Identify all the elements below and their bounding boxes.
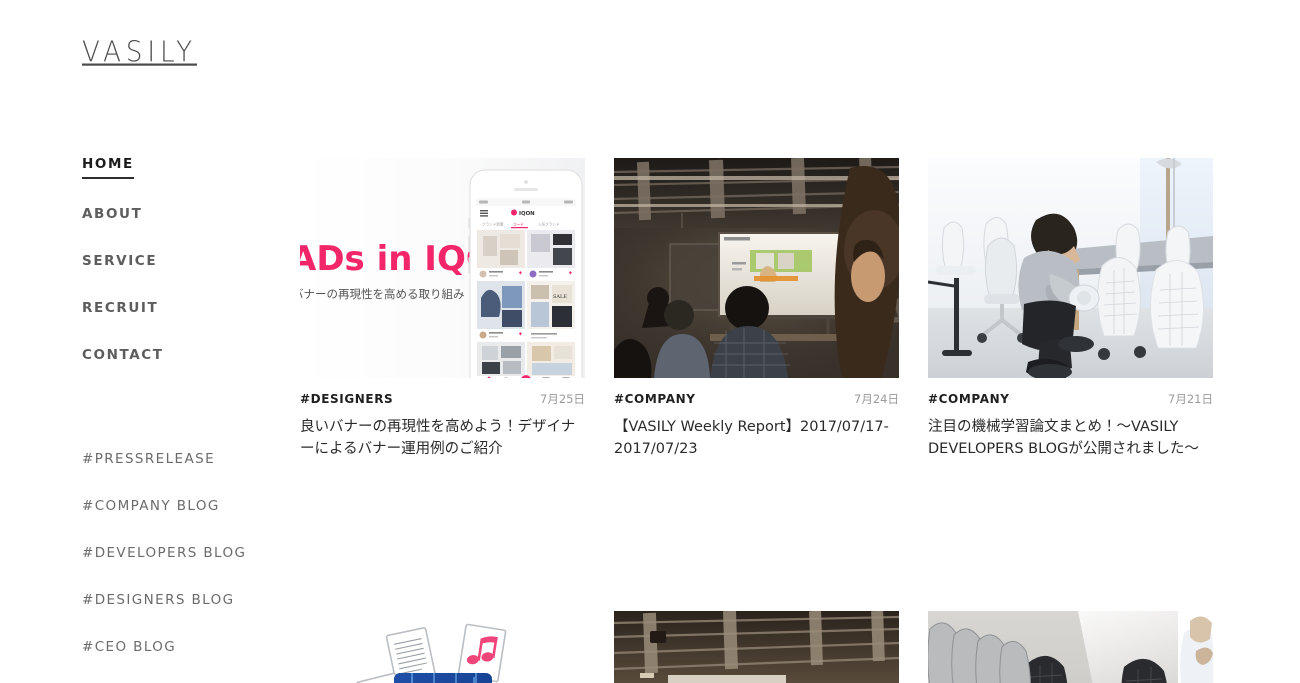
- sidebar-link-designers-blog[interactable]: #DESIGNERS BLOG: [82, 592, 235, 608]
- post-title[interactable]: 良いバナーの再現性を高めよう！デザイナーによるバナー運用例のご紹介: [300, 416, 585, 461]
- post-category[interactable]: #COMPANY: [928, 392, 1010, 406]
- machine-learning-brain-illustration-art: [300, 611, 585, 683]
- post-meta: #COMPANY 7月21日: [928, 391, 1213, 407]
- post-grid: ADs in IQON バナーの再現性を高める取り組み: [300, 158, 1212, 683]
- sidebar-link-company-blog[interactable]: #COMPANY BLOG: [82, 498, 220, 514]
- sidebar-item-home[interactable]: HOME: [82, 155, 282, 179]
- tag-nav: #PRESSRELEASE #COMPANY BLOG #DEVELOPERS …: [82, 450, 302, 683]
- sidebar-link-about[interactable]: ABOUT: [82, 206, 142, 226]
- sidebar-link-pressrelease[interactable]: #PRESSRELEASE: [82, 451, 215, 467]
- post-date: 7月25日: [540, 391, 585, 407]
- sidebar-item-developers-blog[interactable]: #DEVELOPERS BLOG: [82, 544, 302, 562]
- post-thumbnail-office-room[interactable]: [928, 158, 1213, 378]
- svg-text:人気ブランド: 人気ブランド: [538, 221, 560, 226]
- post-row: ADs in IQON バナーの再現性を高める取り組み: [300, 158, 1212, 461]
- primary-nav: HOME ABOUT SERVICE RECRUIT CONTACT: [82, 155, 282, 367]
- sidebar-item-company-blog[interactable]: #COMPANY BLOG: [82, 497, 302, 515]
- sidebar-item-designers-blog[interactable]: #DESIGNERS BLOG: [82, 591, 302, 609]
- svg-text:バナーの再現性を高める取り組み: バナーの再現性を高める取り組み: [300, 287, 465, 301]
- post-date: 7月24日: [854, 391, 899, 407]
- post-meta: #DESIGNERS 7月25日: [300, 391, 585, 407]
- svg-text:ブランド新着: ブランド新着: [482, 221, 504, 226]
- post-thumbnail-empty-chairs[interactable]: [928, 611, 1213, 683]
- post-thumbnail-event-stage[interactable]: OPLE WORK S A PERSON: [614, 611, 899, 683]
- event-stage-panel-photo-art: OPLE WORK S A PERSON: [614, 611, 899, 683]
- post-category[interactable]: #COMPANY: [614, 392, 696, 406]
- post-thumbnail-ads-in-iqon[interactable]: ADs in IQON バナーの再現性を高める取り組み: [300, 158, 585, 378]
- sidebar-item-contact[interactable]: CONTACT: [82, 346, 282, 367]
- post-card[interactable]: #COMPANY 7月21日 注目の機械学習論文まとめ！〜VASILY DEVE…: [928, 158, 1213, 461]
- post-title[interactable]: 注目の機械学習論文まとめ！〜VASILY DEVELOPERS BLOGが公開さ…: [928, 416, 1213, 461]
- sidebar-item-pressrelease[interactable]: #PRESSRELEASE: [82, 450, 302, 468]
- post-thumbnail-seminar[interactable]: O S A: [614, 158, 899, 378]
- site-logo[interactable]: VASILY: [82, 36, 197, 69]
- post-row: OPLE WORK S A PERSON: [300, 611, 1212, 683]
- empty-meeting-chairs-photo-art: [928, 611, 1213, 683]
- post-meta: #COMPANY 7月24日: [614, 391, 899, 407]
- sidebar-link-developers-blog[interactable]: #DEVELOPERS BLOG: [82, 545, 246, 561]
- svg-text:SALE: SALE: [553, 294, 567, 300]
- sidebar-link-service[interactable]: SERVICE: [82, 253, 157, 273]
- post-card[interactable]: ADs in IQON バナーの再現性を高める取り組み: [300, 158, 585, 461]
- post-thumbnail-machine-learning[interactable]: [300, 611, 585, 683]
- sidebar-item-service[interactable]: SERVICE: [82, 252, 282, 273]
- post-card[interactable]: O S A: [614, 158, 899, 461]
- ads-in-iqon-banner-art: ADs in IQON バナーの再現性を高める取り組み: [300, 158, 585, 378]
- sidebar-link-home[interactable]: HOME: [82, 156, 134, 179]
- sidebar-link-ceo-blog[interactable]: #CEO BLOG: [82, 639, 176, 655]
- sidebar-link-recruit[interactable]: RECRUIT: [82, 300, 158, 320]
- sidebar-item-ceo-blog[interactable]: #CEO BLOG: [82, 638, 302, 656]
- sidebar: HOME ABOUT SERVICE RECRUIT CONTACT #PRES…: [82, 155, 282, 393]
- sidebar-link-contact[interactable]: CONTACT: [82, 347, 164, 367]
- post-card[interactable]: [300, 611, 585, 683]
- post-card[interactable]: OPLE WORK S A PERSON: [614, 611, 899, 683]
- svg-text:コーデ: コーデ: [513, 221, 524, 226]
- sidebar-item-recruit[interactable]: RECRUIT: [82, 299, 282, 320]
- post-category[interactable]: #DESIGNERS: [300, 392, 393, 406]
- svg-text:IQON: IQON: [519, 211, 535, 217]
- post-title[interactable]: 【VASILY Weekly Report】2017/07/17-2017/07…: [614, 416, 899, 461]
- sidebar-item-about[interactable]: ABOUT: [82, 205, 282, 226]
- seminar-room-photo-art: O S A: [614, 158, 899, 378]
- page-root: VASILY HOME ABOUT SERVICE RECRUIT CONTAC…: [0, 0, 1300, 683]
- post-date: 7月21日: [1168, 391, 1213, 407]
- office-meeting-room-photo-art: [928, 158, 1213, 378]
- post-card[interactable]: [928, 611, 1213, 683]
